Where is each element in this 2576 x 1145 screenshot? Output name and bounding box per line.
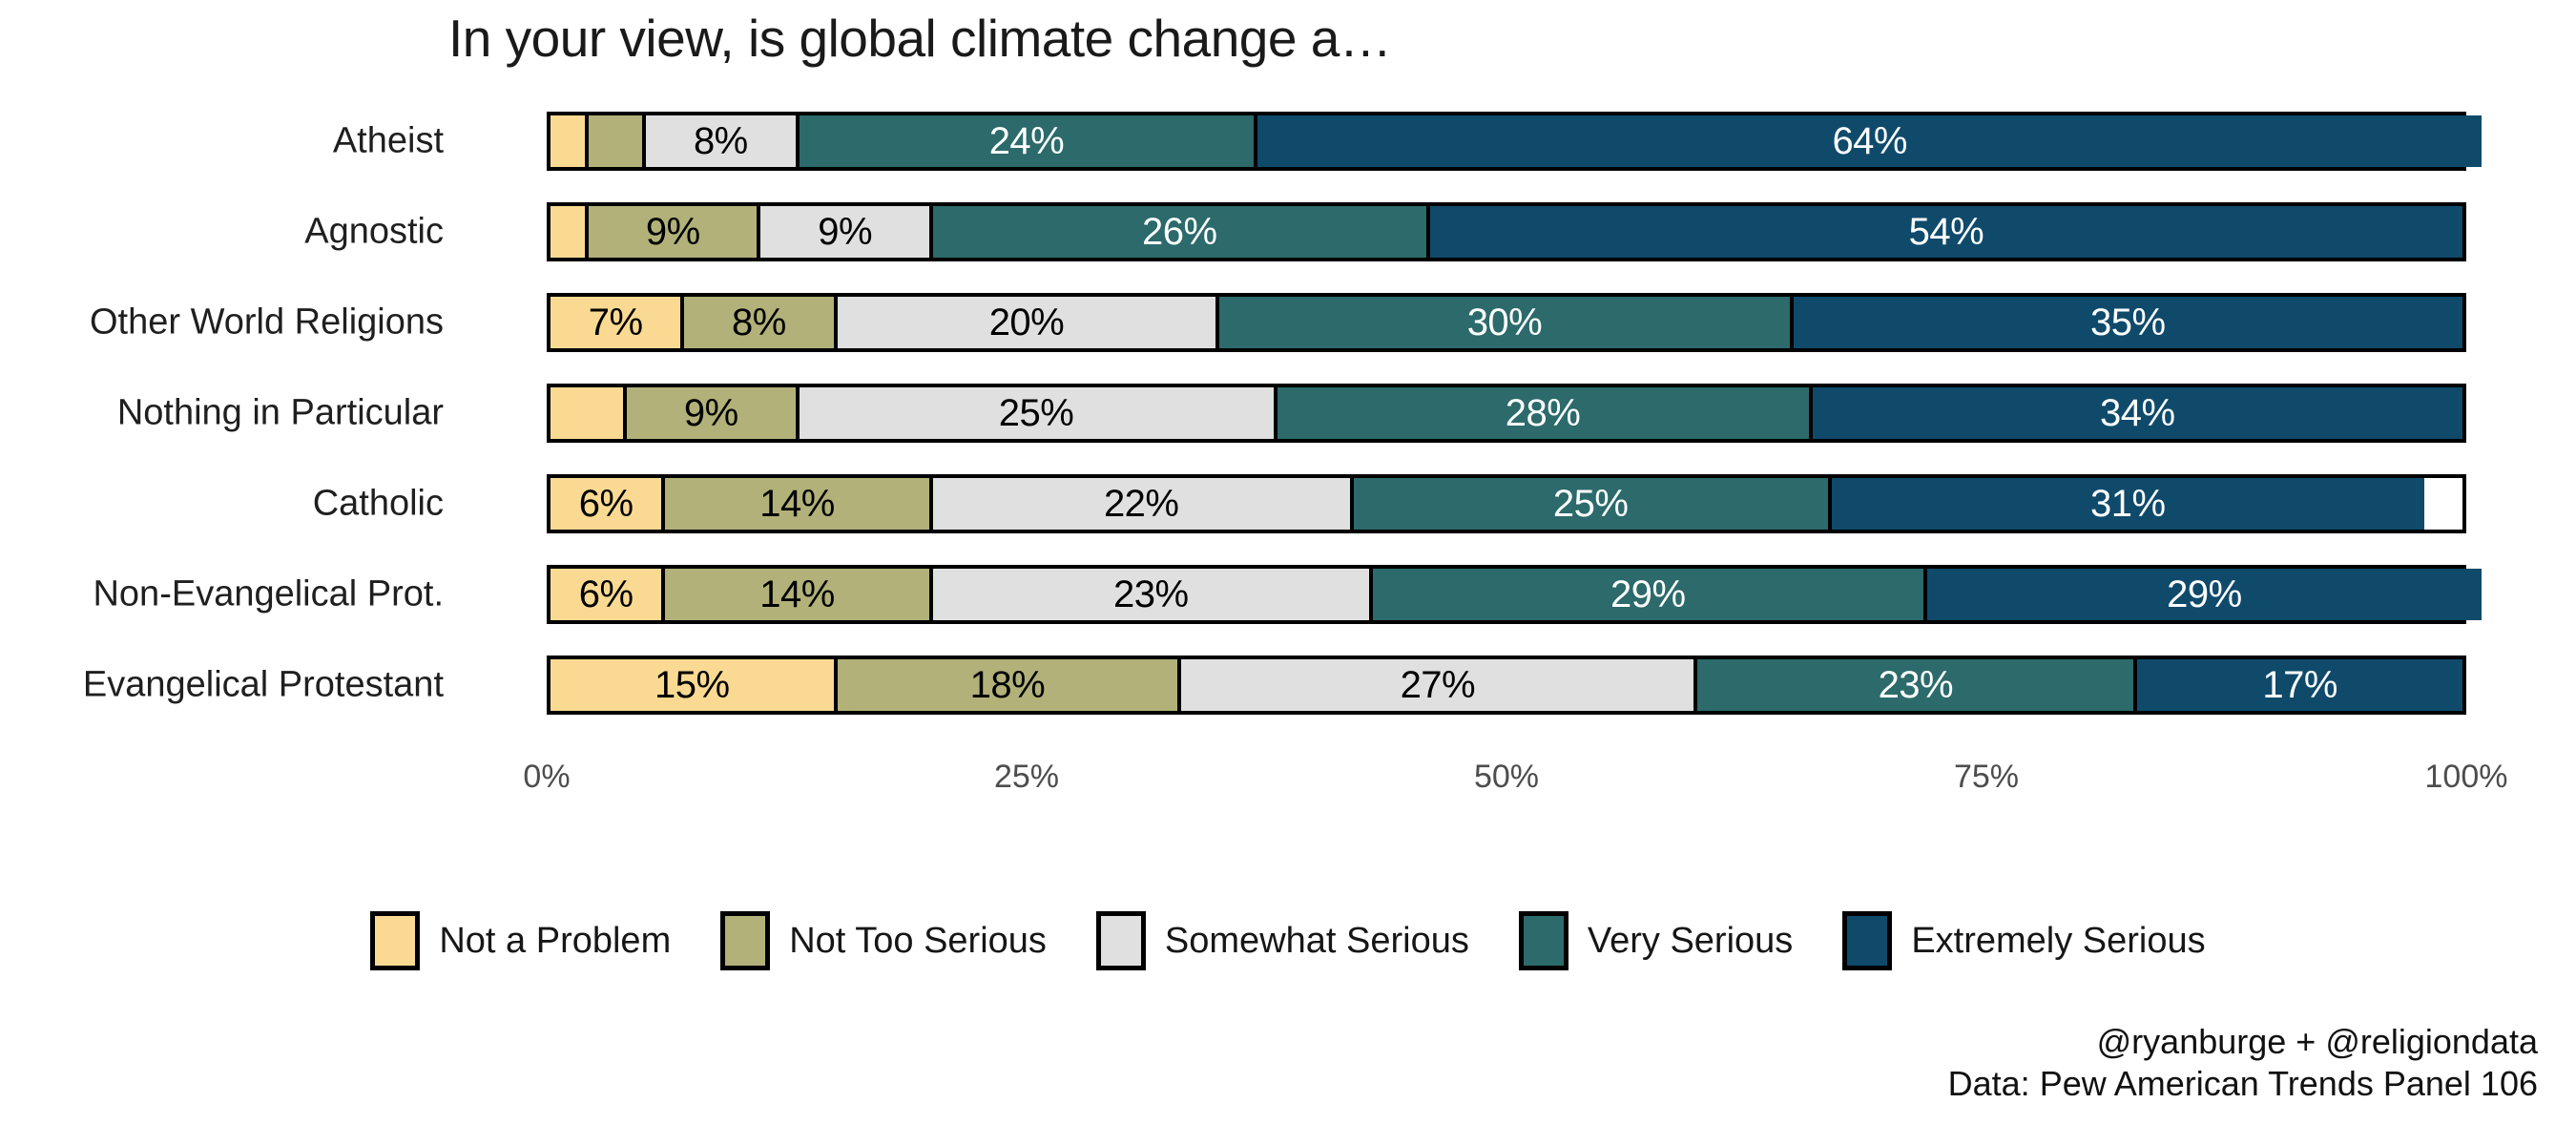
segment-value-label: 29%: [1610, 575, 1686, 614]
segment-value-label: 54%: [1909, 213, 1984, 251]
bar-segment[interactable]: [551, 115, 589, 167]
bar-track: 9%25%28%34%: [547, 384, 2466, 443]
bar-segment[interactable]: 9%: [589, 206, 760, 258]
stacked-bar-chart: In your view, is global climate change a…: [0, 0, 2576, 1145]
legend-item[interactable]: Extremely Serious: [1842, 911, 2205, 970]
bar-segment[interactable]: [589, 115, 646, 167]
category-label: Non-Evangelical Prot.: [93, 573, 444, 614]
segment-value-label: 18%: [970, 666, 1046, 704]
legend-swatch-icon: [1096, 911, 1146, 970]
segment-value-label: 9%: [646, 213, 700, 251]
footer-credit-line: @ryanburge + @religiondata: [1948, 1021, 2538, 1063]
legend-item[interactable]: Somewhat Serious: [1096, 911, 1469, 970]
segment-value-label: 30%: [1467, 303, 1543, 342]
bar-segment[interactable]: 26%: [933, 206, 1430, 258]
bar-segment[interactable]: 9%: [760, 206, 932, 258]
bar-segment[interactable]: 34%: [1813, 387, 2462, 439]
bar-segment[interactable]: 24%: [800, 115, 1258, 167]
segment-value-label: 34%: [2100, 394, 2175, 432]
legend-swatch-icon: [370, 911, 420, 970]
bar-segment[interactable]: 23%: [933, 569, 1373, 620]
segment-value-label: 24%: [989, 122, 1065, 160]
bar-track: 15%18%27%23%17%: [547, 656, 2466, 715]
legend-swatch-icon: [1842, 911, 1892, 970]
bar-segment[interactable]: 6%: [551, 478, 665, 530]
legend-item[interactable]: Not Too Serious: [720, 911, 1047, 970]
bar-segment[interactable]: 25%: [1354, 478, 1832, 530]
bar-segment[interactable]: 31%: [1832, 478, 2424, 530]
segment-value-label: 15%: [654, 666, 730, 704]
bar-segment[interactable]: 7%: [551, 297, 684, 348]
chart-footer: @ryanburge + @religiondata Data: Pew Ame…: [1948, 1021, 2538, 1105]
bar-segment[interactable]: 22%: [933, 478, 1354, 530]
bar-segment[interactable]: 20%: [838, 297, 1220, 348]
bar-segment[interactable]: 30%: [1219, 297, 1793, 348]
bar-segment[interactable]: 29%: [1927, 569, 2482, 620]
bar-track: 9%9%26%54%: [547, 202, 2466, 261]
segment-value-label: 31%: [2090, 485, 2166, 523]
segment-value-label: 28%: [1506, 394, 1581, 432]
segment-value-label: 6%: [579, 485, 634, 523]
bar-segment[interactable]: 8%: [684, 297, 837, 348]
segment-value-label: 8%: [694, 122, 748, 160]
bar-segment[interactable]: 29%: [1373, 569, 1927, 620]
category-label: Agnostic: [304, 211, 444, 252]
bar-segment[interactable]: 6%: [551, 569, 665, 620]
x-axis-tick-label: 0%: [523, 759, 570, 796]
category-label: Evangelical Protestant: [83, 664, 444, 705]
x-axis-tick-label: 25%: [994, 759, 1059, 796]
bar-row: Other World Religions7%8%20%30%35%: [0, 277, 2576, 367]
bar-segment[interactable]: 28%: [1278, 387, 1813, 439]
segment-value-label: 7%: [589, 303, 643, 342]
legend-swatch-icon: [1519, 911, 1568, 970]
segment-value-label: 25%: [1553, 485, 1629, 523]
bar-segment[interactable]: [551, 387, 627, 439]
bar-segment[interactable]: 8%: [646, 115, 799, 167]
plot-area: Atheist8%24%64%Agnostic9%9%26%54%Other W…: [0, 95, 2576, 763]
bar-segment[interactable]: 14%: [665, 569, 933, 620]
bar-track: 7%8%20%30%35%: [547, 293, 2466, 352]
bar-segment[interactable]: [551, 206, 589, 258]
segment-value-label: 22%: [1104, 485, 1179, 523]
bar-row: Catholic6%14%22%25%31%: [0, 458, 2576, 549]
bar-track: 6%14%22%25%31%: [547, 474, 2466, 533]
segment-value-label: 27%: [1401, 666, 1476, 704]
bar-segment[interactable]: 14%: [665, 478, 933, 530]
legend-label: Somewhat Serious: [1165, 921, 1469, 962]
bar-segment[interactable]: 54%: [1430, 206, 2462, 258]
bar-row: Non-Evangelical Prot.6%14%23%29%29%: [0, 549, 2576, 639]
segment-value-label: 9%: [818, 213, 872, 251]
x-axis-tick-label: 75%: [1954, 759, 2019, 796]
x-axis-tick-label: 50%: [1474, 759, 1539, 796]
chart-legend: Not a ProblemNot Too SeriousSomewhat Ser…: [0, 911, 2576, 970]
segment-value-label: 6%: [579, 575, 634, 614]
bar-track: 8%24%64%: [547, 112, 2466, 171]
bar-segment[interactable]: 18%: [838, 659, 1182, 711]
x-axis: 0%25%50%75%100%: [0, 759, 2576, 816]
segment-value-label: 14%: [759, 575, 835, 614]
legend-swatch-icon: [720, 911, 770, 970]
chart-title: In your view, is global climate change a…: [448, 8, 1391, 69]
bar-segment[interactable]: 17%: [2137, 659, 2462, 711]
bar-segment[interactable]: 25%: [800, 387, 1278, 439]
category-label: Nothing in Particular: [117, 392, 444, 433]
segment-value-label: 29%: [2167, 575, 2242, 614]
bar-segment[interactable]: 64%: [1257, 115, 2482, 167]
segment-value-label: 35%: [2090, 303, 2166, 342]
bar-row: Agnostic9%9%26%54%: [0, 186, 2576, 277]
bar-segment[interactable]: 15%: [551, 659, 838, 711]
x-axis-tick-label: 100%: [2425, 759, 2508, 796]
segment-value-label: 8%: [732, 303, 786, 342]
category-label: Atheist: [333, 120, 444, 161]
legend-label: Not a Problem: [439, 921, 671, 962]
segment-value-label: 17%: [2262, 666, 2337, 704]
bar-row: Atheist8%24%64%: [0, 95, 2576, 186]
category-label: Other World Religions: [90, 302, 444, 343]
bar-segment[interactable]: 27%: [1181, 659, 1697, 711]
legend-label: Very Serious: [1588, 921, 1793, 962]
legend-item[interactable]: Very Serious: [1519, 911, 1793, 970]
segment-value-label: 23%: [1879, 666, 1954, 704]
segment-value-label: 25%: [999, 394, 1074, 432]
bar-row: Nothing in Particular9%25%28%34%: [0, 367, 2576, 458]
bar-row: Evangelical Protestant15%18%27%23%17%: [0, 639, 2576, 730]
category-label: Catholic: [313, 483, 444, 524]
legend-label: Extremely Serious: [1911, 921, 2205, 962]
segment-value-label: 23%: [1113, 575, 1189, 614]
bar-track: 6%14%23%29%29%: [547, 565, 2466, 624]
bar-segment[interactable]: 23%: [1697, 659, 2137, 711]
segment-value-label: 64%: [1832, 122, 1907, 160]
segment-value-label: 20%: [989, 303, 1065, 342]
segment-value-label: 14%: [759, 485, 835, 523]
segment-value-label: 9%: [684, 394, 738, 432]
legend-item[interactable]: Not a Problem: [370, 911, 671, 970]
footer-source-line: Data: Pew American Trends Panel 106: [1948, 1063, 2538, 1105]
legend-label: Not Too Serious: [789, 921, 1047, 962]
bar-segment[interactable]: 35%: [1794, 297, 2462, 348]
segment-value-label: 26%: [1142, 213, 1217, 251]
bar-segment[interactable]: 9%: [627, 387, 799, 439]
